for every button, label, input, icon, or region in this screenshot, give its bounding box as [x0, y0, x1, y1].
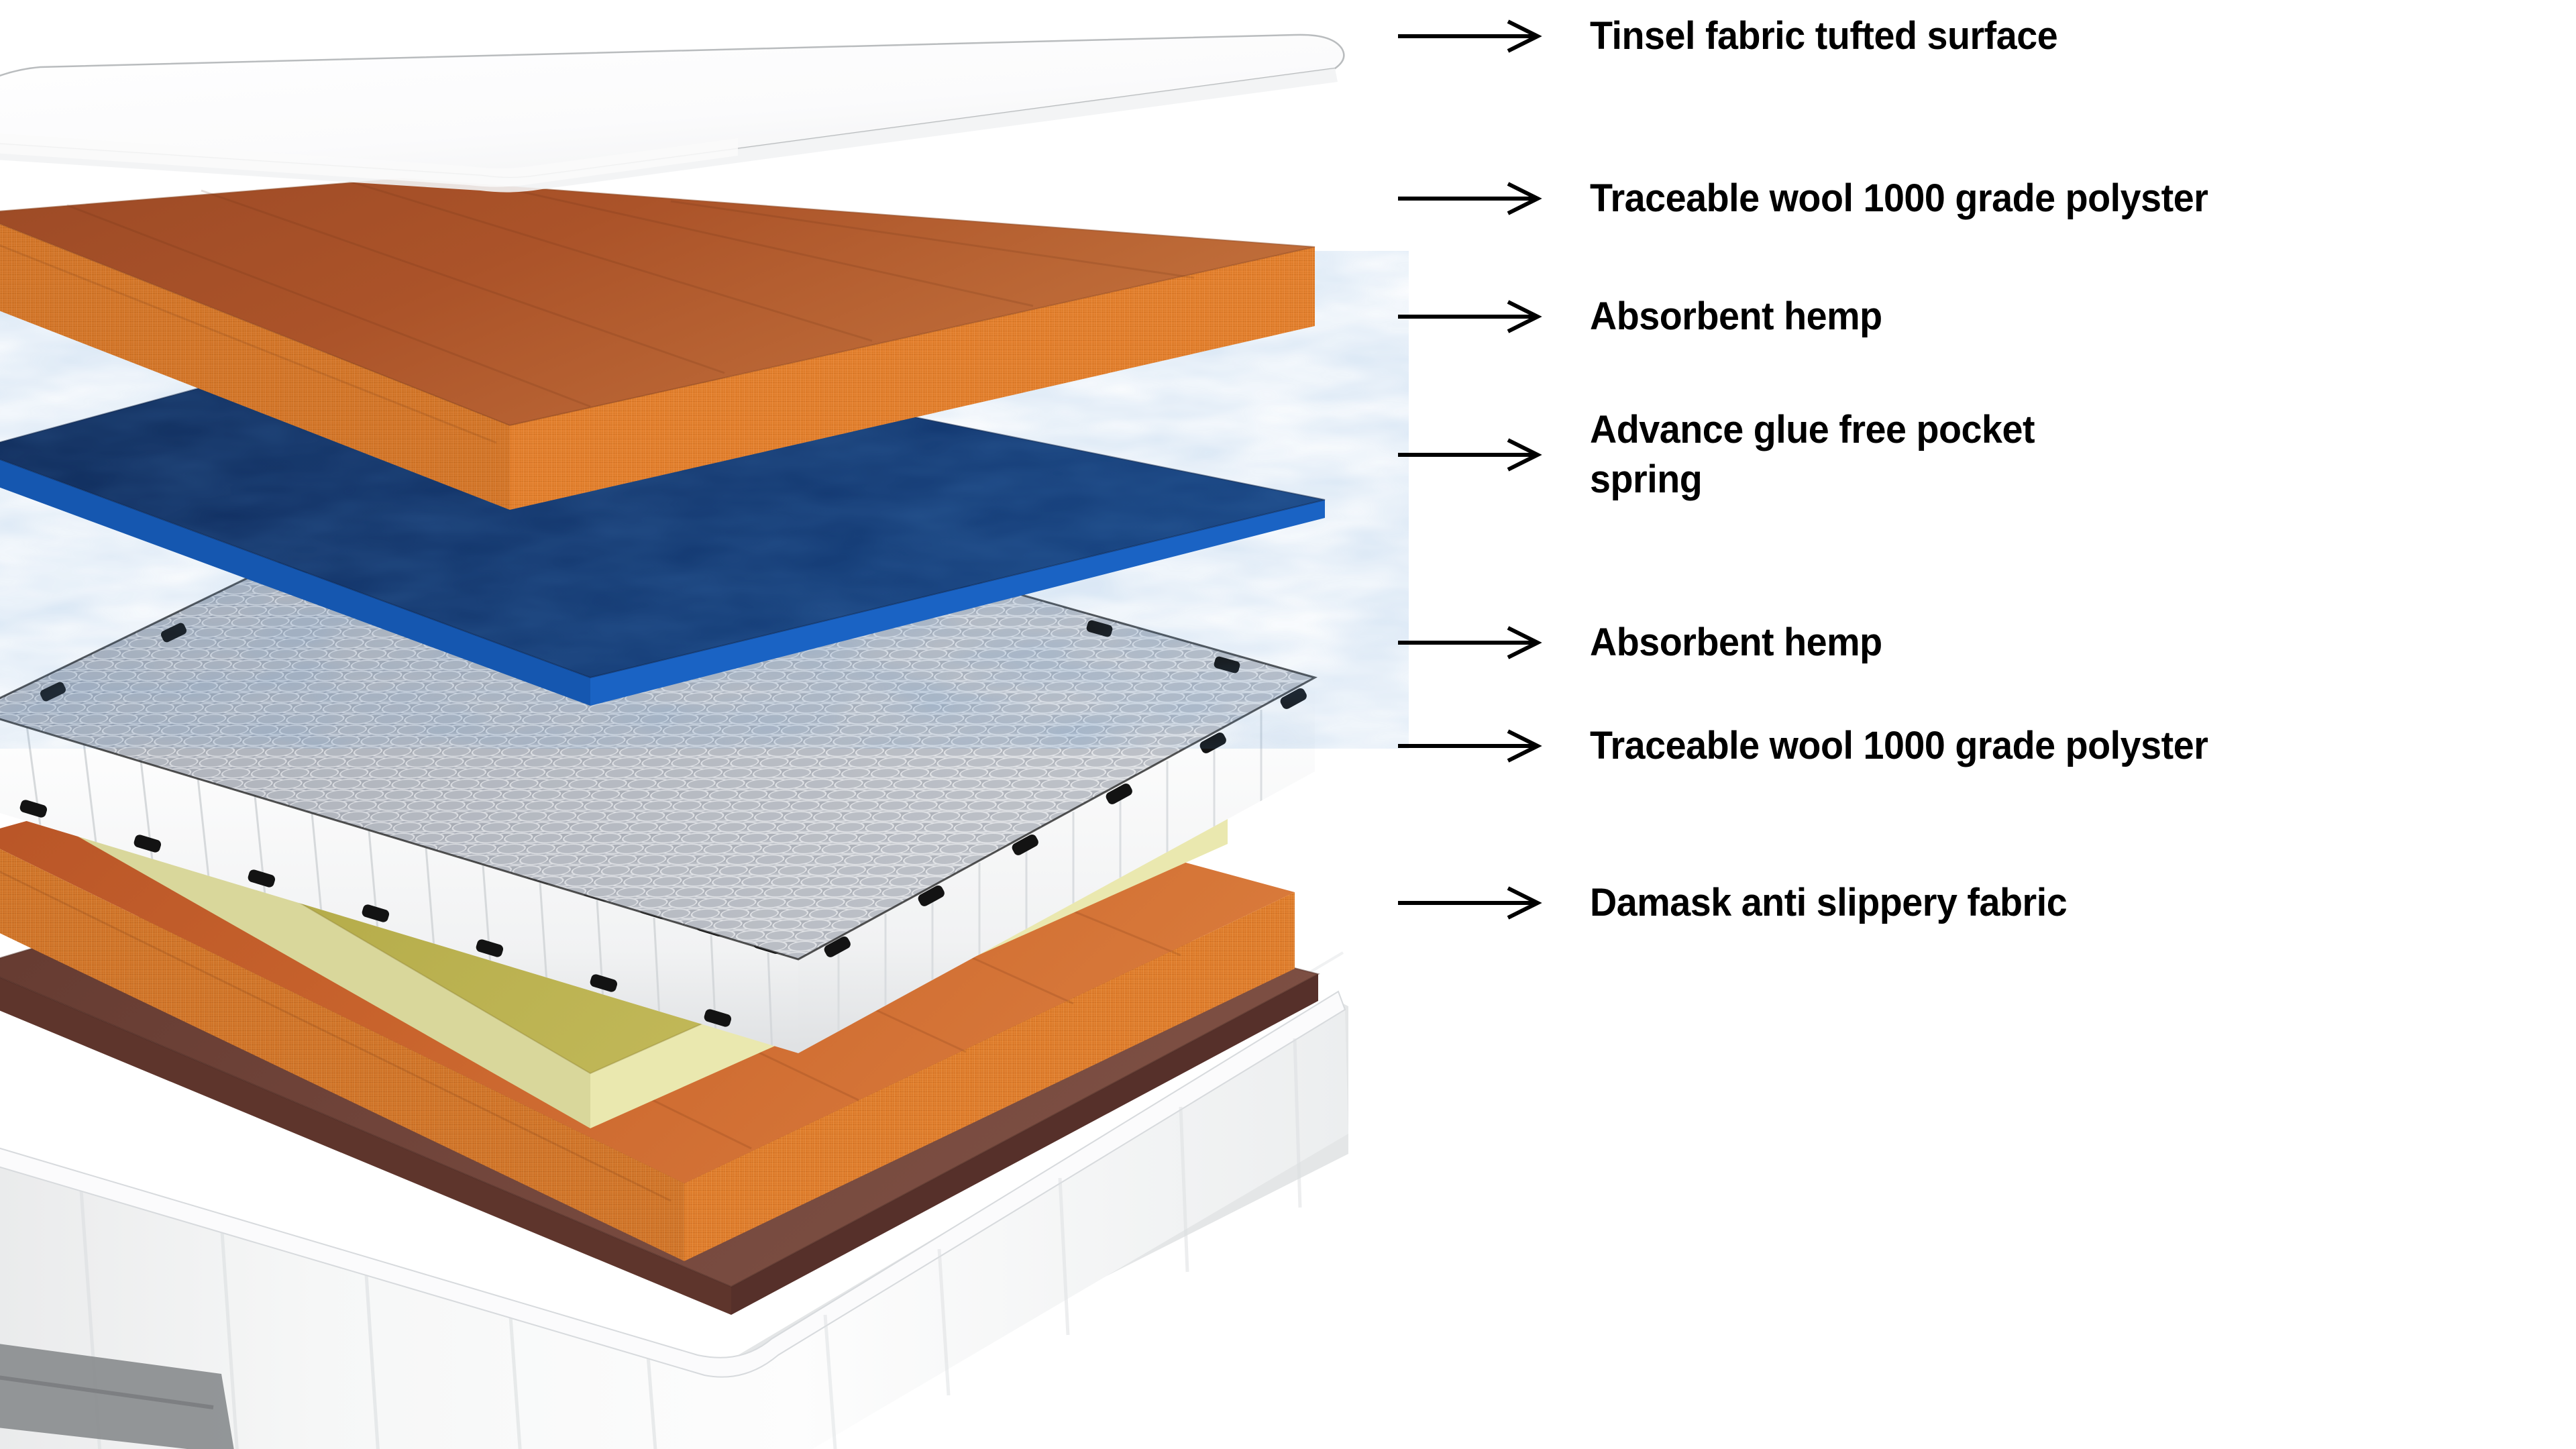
- callout-traceable-wool-polyster-top: Traceable wool 1000 grade polyster: [1395, 173, 2234, 225]
- callout-traceable-wool-polyster-bottom: Traceable wool 1000 grade polyster: [1395, 720, 2234, 772]
- callout-absorbent-hemp-top: Absorbent hemp: [1395, 291, 1894, 343]
- callout-label: Traceable wool 1000 grade polyster: [1590, 173, 2208, 225]
- mattress-layer-diagram: Tinsel fabric tufted surface Traceable w…: [0, 0, 2576, 1449]
- callout-list: Tinsel fabric tufted surface Traceable w…: [1395, 0, 2576, 1449]
- callout-tinsel-fabric-tufted-surface: Tinsel fabric tufted surface: [1395, 11, 2077, 62]
- callout-label: Traceable wool 1000 grade polyster: [1590, 720, 2208, 772]
- callout-label: Absorbent hemp: [1590, 291, 1882, 343]
- arrow-right-icon: [1395, 178, 1550, 219]
- callout-label: Damask anti slippery fabric: [1590, 877, 2067, 929]
- arrow-right-icon: [1395, 16, 1550, 56]
- mattress-cutaway-illustration: [0, 0, 1409, 1449]
- callout-label: Absorbent hemp: [1590, 617, 1882, 669]
- arrow-right-icon: [1395, 883, 1550, 923]
- arrow-right-icon: [1395, 297, 1550, 337]
- callout-label: Tinsel fabric tufted surface: [1590, 11, 2057, 62]
- callout-advance-glue-free-pocket-spring: Advance glue free pocket spring: [1395, 405, 2053, 504]
- callout-label: Advance glue free pocket spring: [1590, 405, 2035, 504]
- arrow-right-icon: [1395, 726, 1550, 766]
- callout-absorbent-hemp-bottom: Absorbent hemp: [1395, 617, 1894, 669]
- arrow-right-icon: [1395, 435, 1550, 475]
- arrow-right-icon: [1395, 623, 1550, 663]
- callout-damask-anti-slippery-fabric: Damask anti slippery fabric: [1395, 877, 2087, 929]
